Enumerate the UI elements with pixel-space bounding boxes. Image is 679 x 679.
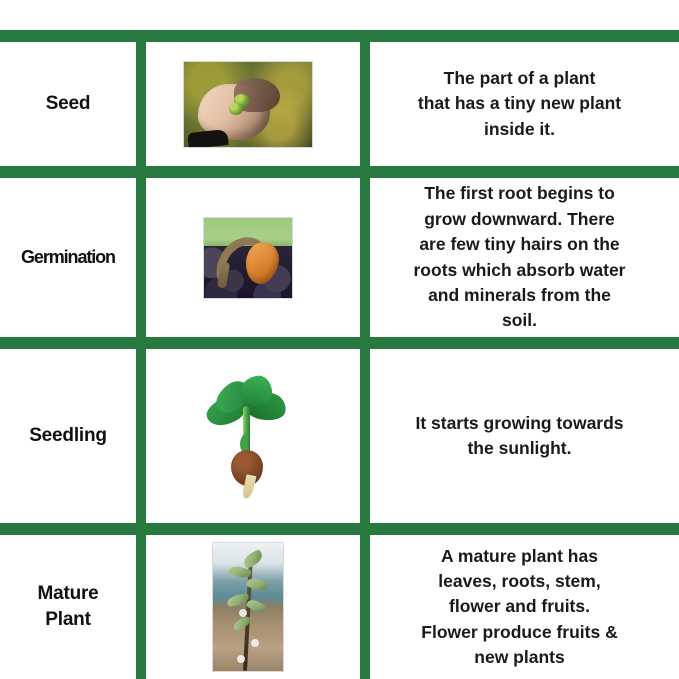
stage-name-cell: Seedling [0,349,136,523]
stage-description-cell: It starts growing towards the sunlight. [360,349,679,523]
grid-line-top [0,30,679,42]
table-row: Mature Plant A mature plant has leaves, … [0,535,679,679]
stage-name-cell: Seed [0,42,136,166]
table-row: Seed The part of a plant that has a tiny… [0,42,679,166]
seedling-illustration [200,376,296,496]
sleeve-shape [187,128,228,147]
stage-description-cell: A mature plant has leaves, roots, stem, … [360,535,679,679]
leaf-icon [241,549,264,569]
seed-in-hand-photo [183,61,313,148]
grid-line-row1-row2 [0,166,679,178]
stage-description: The part of a plant that has a tiny new … [418,66,621,142]
flower-icon [237,655,245,663]
plant-growth-stages-table: Seed The part of a plant that has a tiny… [0,0,679,679]
stage-description-cell: The part of a plant that has a tiny new … [360,42,679,166]
flower-icon [239,609,247,617]
green-seed-icon [229,103,243,115]
table-row: Seedling It starts growing towards the s… [0,349,679,523]
grid-line-row2-row3 [0,337,679,349]
stage-description: It starts growing towards the sunlight. [415,411,623,462]
stage-label: Seedling [29,423,107,449]
stage-illustration-cell [136,42,360,166]
stage-description: A mature plant has leaves, roots, stem, … [421,544,617,671]
stage-name-cell: Mature Plant [0,535,136,679]
mature-plant-photo [212,542,284,672]
stage-description-cell: The first root begins to grow downward. … [360,178,679,337]
stage-illustration-cell [136,349,360,523]
stage-illustration-cell [136,535,360,679]
stage-label: Mature Plant [37,581,98,632]
stage-label: Germination [21,245,115,269]
stage-label: Seed [46,91,91,117]
grid-line-row3-row4 [0,523,679,535]
stage-description: The first root begins to grow downward. … [414,181,626,333]
stage-illustration-cell [136,178,360,337]
stage-name-cell: Germination [0,178,136,337]
germinating-seed-photo [203,217,293,299]
flower-icon [251,639,259,647]
table-row: Germination The first root begins to gro… [0,178,679,337]
